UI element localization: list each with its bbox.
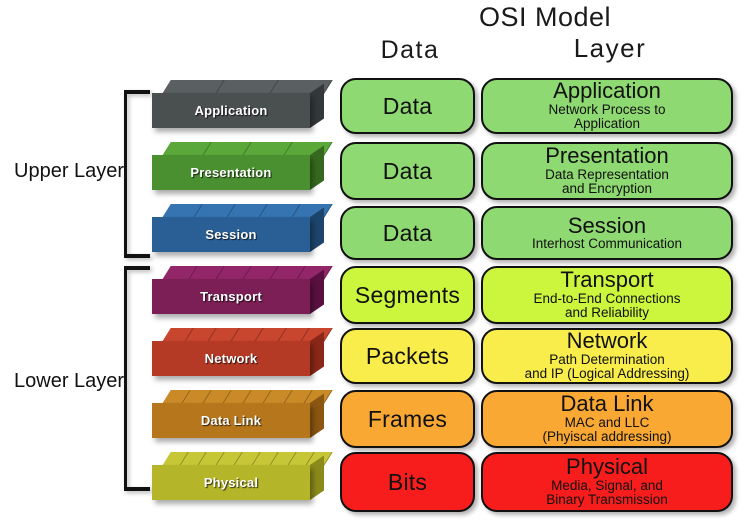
layer-description: MAC and LLC (Phyiscal addressing) [538, 416, 675, 445]
brick-side-face [310, 456, 324, 500]
brick-top-face [162, 328, 333, 342]
data-unit-label: Packets [366, 343, 449, 370]
data-unit-physical[interactable]: Bits [340, 452, 475, 512]
brick-presentation[interactable]: Presentation [152, 142, 324, 190]
layer-title: Physical [566, 456, 648, 478]
data-unit-label: Data [383, 158, 432, 185]
brick-top-face [162, 80, 333, 94]
layer-title: Presentation [545, 145, 669, 167]
brick-data-link[interactable]: Data Link [152, 390, 324, 438]
brick-front-face: Transport [152, 279, 310, 314]
brick-front-face: Application [152, 93, 310, 128]
layer-title: Application [553, 80, 661, 102]
bracket-lower-layer [124, 266, 150, 491]
brick-top-face [162, 142, 333, 156]
data-unit-session[interactable]: Data [340, 206, 475, 260]
data-unit-application[interactable]: Data [340, 78, 475, 134]
osi-brick-stack: ApplicationPresentationSessionTransportN… [152, 80, 332, 512]
brick-top-face [162, 204, 333, 218]
brick-front-face: Network [152, 341, 310, 376]
brick-top-face [162, 390, 333, 404]
brick-label: Application [195, 103, 268, 118]
group-label-upper-layer: Upper Layer [14, 160, 124, 183]
column-header-data: Data [340, 36, 480, 65]
data-unit-data-link[interactable]: Frames [340, 390, 475, 448]
brick-side-face [310, 332, 324, 376]
brick-label: Transport [200, 289, 262, 304]
brick-front-face: Data Link [152, 403, 310, 438]
bracket-upper-layer [124, 90, 150, 258]
brick-stud [216, 80, 279, 94]
brick-physical[interactable]: Physical [152, 452, 324, 500]
brick-application[interactable]: Application [152, 80, 324, 128]
brick-side-face [310, 270, 324, 314]
layer-description: Path Determination and IP (Logical Addre… [521, 353, 694, 382]
page-title: OSI Model [430, 2, 660, 33]
data-unit-label: Data [383, 93, 432, 120]
brick-side-face [310, 146, 324, 190]
layer-title: Transport [560, 269, 653, 291]
data-unit-network[interactable]: Packets [340, 328, 475, 384]
data-unit-transport[interactable]: Segments [340, 266, 475, 324]
brick-session[interactable]: Session [152, 204, 324, 252]
layer-card-physical[interactable]: PhysicalMedia, Signal, and Binary Transm… [481, 452, 733, 512]
layer-description: Network Process to Application [544, 103, 669, 132]
data-unit-label: Frames [368, 406, 447, 433]
brick-label: Session [205, 227, 256, 242]
brick-front-face: Physical [152, 465, 310, 500]
data-unit-label: Data [383, 220, 432, 247]
data-unit-label: Bits [388, 469, 427, 496]
brick-label: Physical [204, 475, 258, 490]
layer-description: End-to-End Connections and Reliability [529, 292, 684, 321]
brick-label: Presentation [190, 165, 271, 180]
brick-network[interactable]: Network [152, 328, 324, 376]
layer-title: Session [568, 215, 646, 237]
layer-description: Interhost Communication [528, 237, 686, 251]
brick-transport[interactable]: Transport [152, 266, 324, 314]
layer-card-application[interactable]: ApplicationNetwork Process to Applicatio… [481, 78, 733, 134]
layer-card-transport[interactable]: TransportEnd-to-End Connections and Reli… [481, 266, 733, 324]
layer-title: Data Link [561, 393, 654, 415]
brick-label: Network [205, 351, 258, 366]
column-header-layer: Layer [480, 33, 740, 64]
layer-card-data-link[interactable]: Data LinkMAC and LLC (Phyiscal addressin… [481, 390, 733, 448]
brick-side-face [310, 84, 324, 128]
data-unit-label: Segments [355, 282, 460, 309]
brick-side-face [310, 394, 324, 438]
data-unit-presentation[interactable]: Data [340, 142, 475, 200]
brick-stud [162, 80, 225, 94]
layer-description: Data Representation and Encryption [541, 168, 673, 197]
brick-label: Data Link [201, 413, 261, 428]
brick-front-face: Presentation [152, 155, 310, 190]
brick-top-face [162, 266, 333, 280]
layer-description: Media, Signal, and Binary Transmission [542, 479, 672, 508]
brick-stud [284, 142, 333, 156]
layer-title: Network [567, 330, 648, 352]
brick-top-face [162, 452, 333, 466]
brick-side-face [310, 208, 324, 252]
layer-card-presentation[interactable]: PresentationData Representation and Encr… [481, 142, 733, 200]
brick-front-face: Session [152, 217, 310, 252]
layer-card-network[interactable]: NetworkPath Determination and IP (Logica… [481, 328, 733, 384]
group-label-lower-layer: Lower Layer [14, 370, 124, 393]
layer-card-session[interactable]: SessionInterhost Communication [481, 206, 733, 260]
